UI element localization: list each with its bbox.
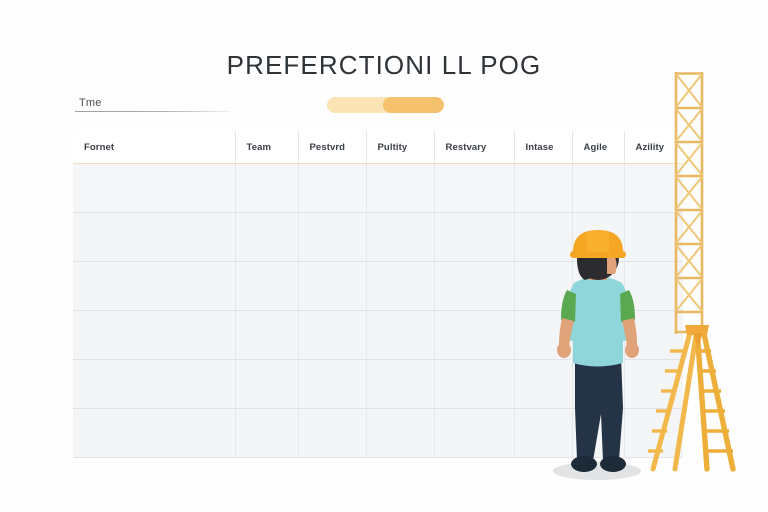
table-cell[interactable]	[298, 213, 366, 262]
table-cell[interactable]	[366, 409, 434, 458]
table-cell[interactable]	[366, 213, 434, 262]
time-field-label: Tme	[75, 96, 230, 110]
table-cell[interactable]	[298, 311, 366, 360]
table-cell[interactable]	[298, 164, 366, 213]
table-cell[interactable]	[366, 360, 434, 409]
table-cell[interactable]	[434, 311, 514, 360]
table-column-header[interactable]: Fornet	[73, 131, 235, 164]
time-field-underline	[75, 111, 230, 112]
illustration-canvas: PREFERCTIONI LL POG Tme FornetTeamPestvr…	[0, 0, 768, 512]
progress-pill-fill	[383, 97, 444, 113]
table-cell[interactable]	[73, 409, 235, 458]
time-field[interactable]: Tme	[75, 96, 230, 112]
table-column-header[interactable]: Agile	[572, 131, 624, 164]
table-cell[interactable]	[434, 213, 514, 262]
table-cell[interactable]	[298, 409, 366, 458]
construction-worker-illustration	[535, 228, 657, 486]
table-column-header[interactable]: Restvary	[434, 131, 514, 164]
step-ladder-icon	[645, 325, 741, 473]
scaffold-tower-icon	[673, 72, 705, 334]
table-cell[interactable]	[235, 213, 298, 262]
table-header-row: FornetTeamPestvrdPultityRestvaryIntaseAg…	[73, 131, 683, 164]
table-cell[interactable]	[235, 262, 298, 311]
table-cell[interactable]	[434, 360, 514, 409]
table-cell[interactable]	[73, 262, 235, 311]
table-cell[interactable]	[73, 360, 235, 409]
table-column-header[interactable]: Pestvrd	[298, 131, 366, 164]
table-row[interactable]	[73, 164, 683, 213]
table-column-header[interactable]: Pultity	[366, 131, 434, 164]
table-cell[interactable]	[235, 360, 298, 409]
table-column-header[interactable]: Intase	[514, 131, 572, 164]
table-cell[interactable]	[572, 164, 624, 213]
table-cell[interactable]	[73, 164, 235, 213]
page-title: PREFERCTIONI LL POG	[0, 50, 768, 81]
table-header: FornetTeamPestvrdPultityRestvaryIntaseAg…	[73, 131, 683, 164]
table-cell[interactable]	[235, 311, 298, 360]
table-cell[interactable]	[366, 311, 434, 360]
progress-pill[interactable]	[327, 97, 444, 113]
table-cell[interactable]	[434, 164, 514, 213]
table-cell[interactable]	[73, 213, 235, 262]
table-cell[interactable]	[434, 262, 514, 311]
table-cell[interactable]	[298, 262, 366, 311]
table-cell[interactable]	[366, 164, 434, 213]
table-cell[interactable]	[366, 262, 434, 311]
table-cell[interactable]	[514, 164, 572, 213]
table-cell[interactable]	[73, 311, 235, 360]
table-cell[interactable]	[235, 409, 298, 458]
table-column-header[interactable]: Team	[235, 131, 298, 164]
table-cell[interactable]	[434, 409, 514, 458]
table-cell[interactable]	[235, 164, 298, 213]
table-cell[interactable]	[298, 360, 366, 409]
